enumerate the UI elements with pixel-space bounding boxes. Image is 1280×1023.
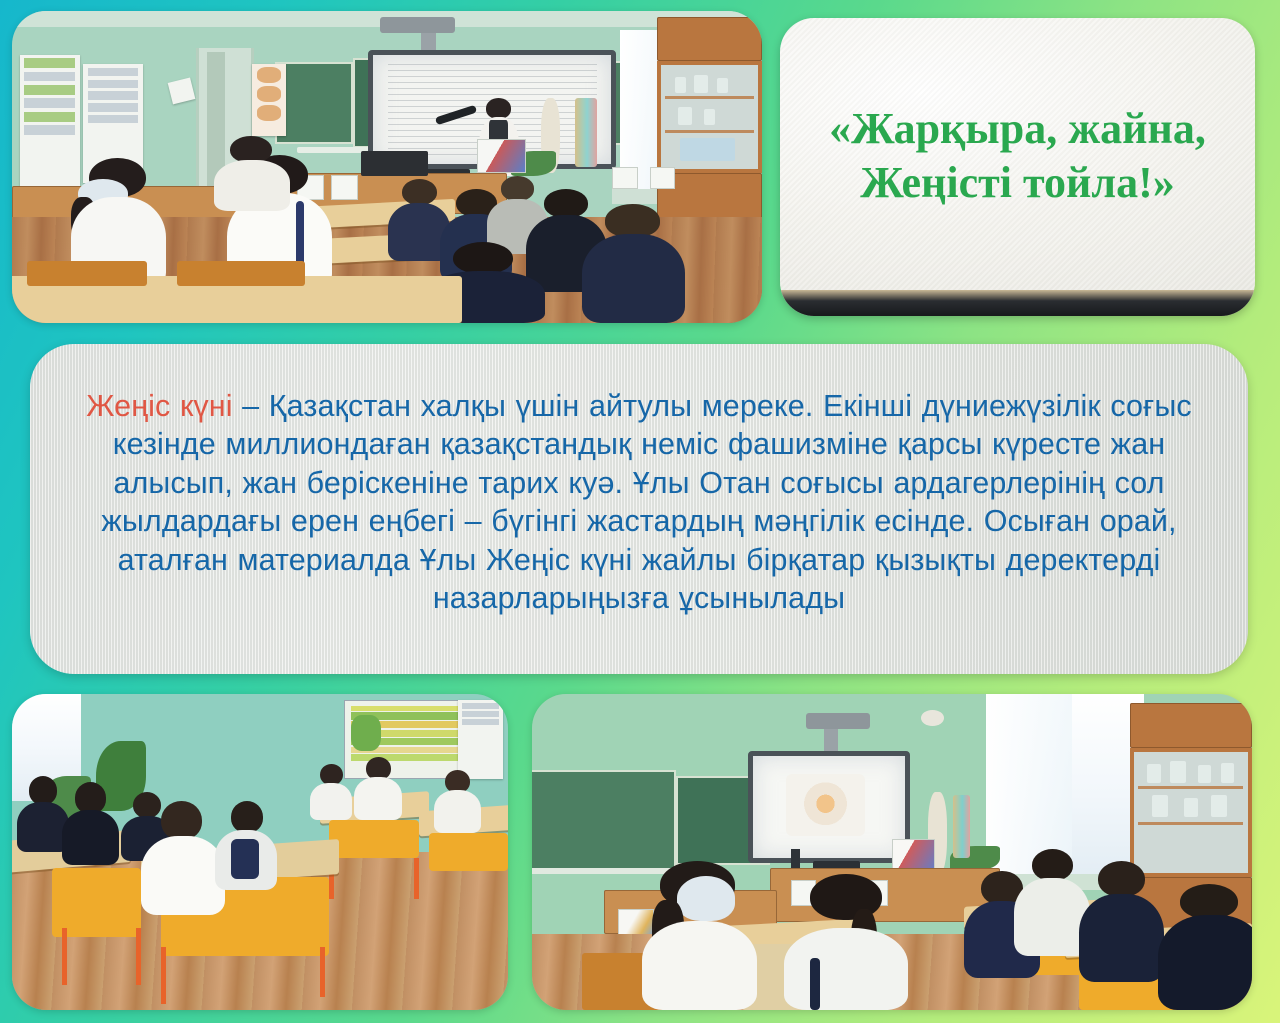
anatomy-poster-stand	[477, 139, 526, 173]
photo-scene	[12, 694, 508, 1010]
uniform-stripe	[296, 201, 303, 270]
pupil-body	[784, 928, 908, 1010]
cabinet-top-right	[1130, 703, 1252, 747]
pupil-body	[62, 810, 119, 864]
description-text: Жеңіс күні – Қазақстан халқы үшін айтулы…	[30, 375, 1248, 618]
cat-poster-strip	[252, 64, 286, 136]
pupil-head	[402, 179, 437, 205]
laptop	[361, 151, 429, 176]
pupil-head	[320, 764, 342, 786]
pupil-head	[29, 776, 57, 805]
pupil-front-4-center	[141, 801, 225, 915]
chair-back-right	[177, 261, 305, 286]
pupil-body	[1158, 915, 1252, 1010]
pupil-head	[230, 136, 271, 163]
photo-scene	[532, 694, 1252, 1010]
classroom-presentation-photo	[532, 694, 1252, 1010]
pupil-mid-row	[207, 136, 297, 211]
slide-title-text: «Жарқыра, жайна, Жеңісті тойла!»	[813, 102, 1222, 231]
classroom-pupils-seated-photo	[12, 694, 508, 1010]
pupil-back-2	[354, 757, 404, 820]
desk-leg	[136, 928, 141, 985]
pupil-foreground-center-braid	[784, 874, 914, 1010]
desk-body-far-right	[429, 833, 508, 871]
interactive-whiteboard	[748, 751, 910, 863]
pupil-body	[582, 234, 685, 323]
pupil-body	[354, 777, 402, 820]
glass-display-cabinet	[657, 61, 762, 173]
classroom-lesson-wide-photo	[12, 11, 762, 323]
display-card-6	[650, 167, 676, 189]
pupil-back-3	[434, 770, 484, 833]
photo-scene	[12, 11, 762, 323]
pupil-right-3	[1079, 861, 1165, 981]
whiteboard-slide-graphic	[786, 774, 865, 835]
headscarf	[677, 876, 736, 921]
desk-leg	[62, 928, 67, 985]
wall-poster-right	[458, 700, 503, 779]
cabinet-top-right	[657, 17, 762, 61]
pupil-body	[1079, 894, 1164, 982]
pupil-body	[434, 790, 482, 833]
pupil-head	[453, 242, 513, 274]
pupil-head	[1180, 884, 1238, 919]
uniform-stripe	[810, 958, 820, 1010]
wall-note-small	[167, 77, 194, 104]
pupil-head	[75, 782, 106, 813]
pupil-head	[1032, 849, 1073, 881]
desk-body-back-right	[329, 820, 418, 858]
display-card-5	[612, 167, 638, 189]
pupil-head	[1098, 861, 1145, 897]
pendant-lamp	[921, 710, 944, 726]
projector	[806, 713, 871, 729]
desk-leg	[320, 947, 325, 998]
pupil-head	[605, 204, 660, 237]
description-highlight: Жеңіс күні	[86, 389, 232, 423]
chair-back-left	[27, 261, 147, 286]
teacher-head	[486, 98, 511, 118]
uniform-vest	[231, 839, 259, 880]
pupil-head	[161, 801, 201, 840]
chalkboard-left	[275, 62, 354, 143]
pupil-back-1	[310, 764, 355, 821]
description-panel: Жеңіс күні – Қазақстан халқы үшін айтулы…	[30, 344, 1248, 674]
pupil-body	[642, 921, 757, 1010]
pupil-body	[214, 160, 290, 211]
pupil-front-5	[215, 801, 279, 889]
pupil-foreground-left-headscarf	[640, 861, 762, 1010]
pupil-front-right	[582, 204, 687, 323]
description-body: – Қазақстан халқы үшін айтулы мереке. Ек…	[101, 389, 1191, 616]
chalkboard-left	[532, 770, 676, 871]
pupil-body	[141, 836, 225, 916]
pupil-head	[231, 801, 263, 833]
pupil-front-2	[62, 782, 122, 864]
anatomy-chart-roll	[953, 795, 970, 858]
anatomy-chart-roll	[575, 98, 598, 167]
poster-canvas: «Жарқыра, жайна, Жеңісті тойла!» Жеңіс к…	[0, 0, 1280, 1023]
pupil-body	[310, 783, 351, 821]
projector	[380, 17, 455, 33]
desk-leg	[161, 947, 166, 1004]
slide-title-photo: «Жарқыра, жайна, Жеңісті тойла!»	[780, 18, 1255, 316]
desk-leg	[414, 858, 419, 899]
pupil-right-foreground	[1158, 884, 1252, 1010]
glass-display-cabinet	[1130, 748, 1252, 878]
